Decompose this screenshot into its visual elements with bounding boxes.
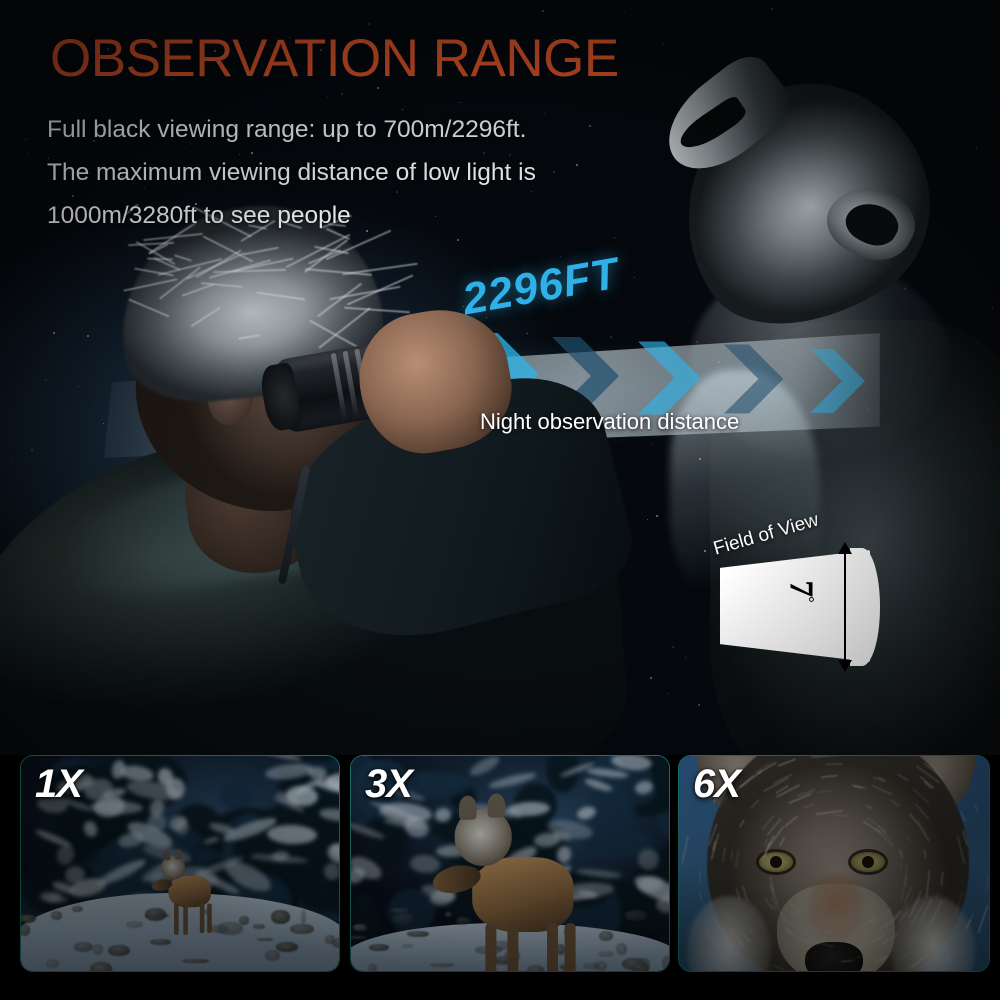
wolf-leg	[207, 904, 212, 933]
product-feature-image: 7° Field of View 2296FT Night observatio…	[0, 0, 1000, 1000]
wolf-leg	[200, 904, 205, 933]
wolf-pupil	[770, 856, 782, 868]
description-text: Full black viewing range: up to 700m/229…	[47, 108, 536, 237]
wolf-leg	[183, 904, 188, 935]
wolf-pupil	[862, 856, 874, 868]
zoom-sample-6x[interactable]: 6X	[678, 755, 990, 972]
wolf-torso	[472, 857, 573, 932]
fov-cone-shape	[720, 550, 870, 662]
zoom-sample-strip: 1X 3X	[0, 755, 1000, 1000]
wolf-ear	[459, 796, 477, 820]
zoom-sample-1x[interactable]: 1X	[20, 755, 340, 972]
wolf-ear	[175, 849, 182, 859]
fov-cone-arc	[850, 548, 880, 666]
description-line-3: 1000m/3280ft to see people	[47, 194, 536, 237]
wolf-leg	[565, 923, 576, 972]
wolf-eye-right	[851, 852, 885, 872]
zoom-level-label: 1X	[35, 762, 82, 807]
fov-measure-arrow	[844, 552, 846, 662]
zoom-level-label: 3X	[365, 762, 412, 807]
description-line-1: Full black viewing range: up to 700m/229…	[47, 108, 536, 151]
wolf-leg	[547, 923, 558, 972]
wolf-ear	[488, 793, 506, 817]
zoom-sample-3x[interactable]: 3X	[350, 755, 670, 972]
wolf-leg	[174, 904, 179, 935]
wolf-leg	[485, 923, 496, 972]
beam-caption: Night observation distance	[480, 409, 739, 435]
wolf-torso	[169, 876, 211, 907]
field-of-view-diagram: 7° Field of View	[700, 520, 930, 680]
page-title: OBSERVATION RANGE	[50, 31, 619, 87]
zoom-level-label: 6X	[693, 762, 740, 807]
wolf-ear	[163, 850, 170, 860]
fov-angle-value: 7°	[782, 580, 820, 601]
hero-night-scene: 7° Field of View 2296FT Night observatio…	[0, 0, 1000, 755]
description-line-2: The maximum viewing distance of low ligh…	[47, 151, 536, 194]
wolf-leg	[507, 923, 518, 972]
